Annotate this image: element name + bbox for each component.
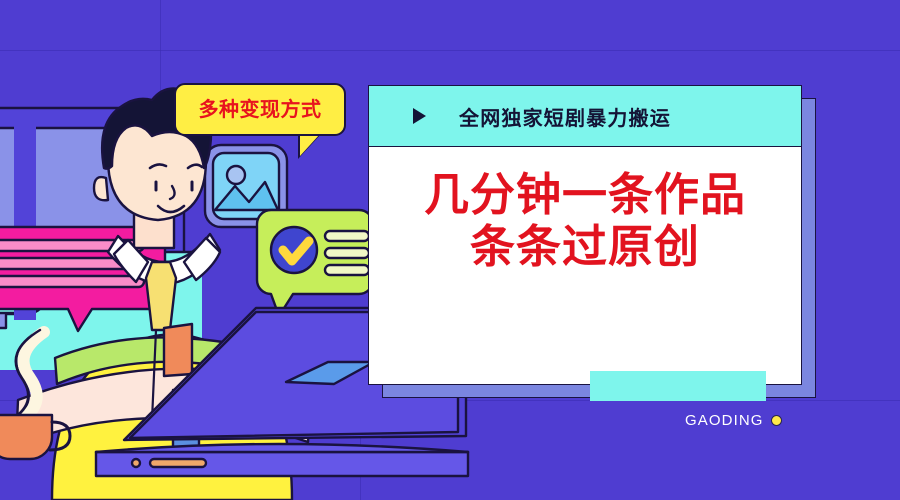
- watermark-dot-icon: [771, 415, 782, 426]
- promo-badge: 多种变现方式: [174, 83, 346, 136]
- promo-badge-text: 多种变现方式: [199, 100, 322, 120]
- main-card: 全网独家短剧暴力搬运 几分钟一条作品 条条过原创: [368, 85, 802, 385]
- badge-tail: [300, 134, 320, 156]
- card-body: 几分钟一条作品 条条过原创: [369, 147, 801, 384]
- play-triangle-icon: [413, 108, 426, 124]
- watermark: GAODING: [685, 412, 782, 429]
- card-header-title: 全网独家短剧暴力搬运: [459, 102, 671, 131]
- poster-canvas: 多种变现方式 全网独家短剧暴力搬运 几分钟一条作品 条条过原创 GAODING: [0, 0, 900, 500]
- headline-line-1: 几分钟一条作品: [424, 169, 746, 221]
- headline-line-2: 条条过原创: [470, 221, 700, 273]
- watermark-text: GAODING: [685, 412, 764, 429]
- card-accent-strip: [590, 371, 766, 401]
- card-header: 全网独家短剧暴力搬运: [369, 86, 801, 147]
